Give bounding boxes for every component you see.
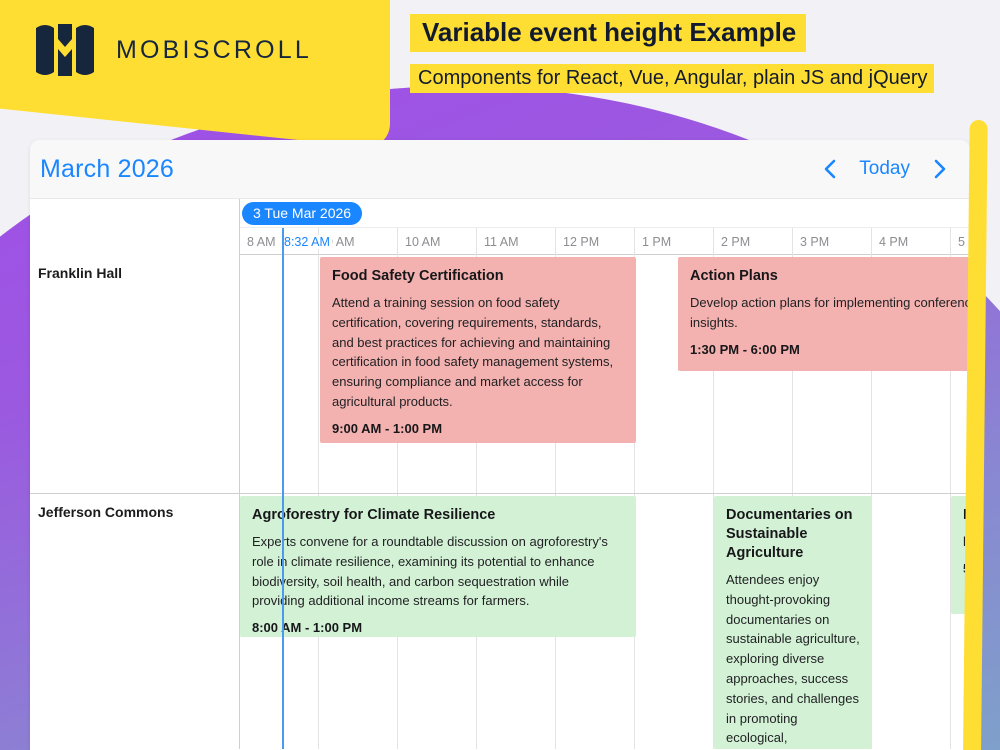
page-header: Variable event height Example Components… [410,12,990,95]
event-description: Attendees enjoy thought-provoking docume… [726,570,860,748]
current-time-line-header [282,228,284,255]
hour-label: 11 AM [484,235,519,249]
hour-label-cell: 3 PM [793,228,872,255]
event-food-safety-certification[interactable]: Food Safety Certification Attend a train… [320,257,636,443]
next-button[interactable] [922,152,956,186]
event-action-plans[interactable]: Action Plans Develop action plans for im… [678,257,970,371]
grid-row-jefferson-commons[interactable]: Agroforestry for Climate Resilience Expe… [240,494,970,749]
resource-labels: Franklin Hall Jefferson Commons [30,255,240,749]
hour-label: 8 AM [247,235,276,249]
calendar-navigation: Today [813,152,956,186]
current-time-label: 8:32 AM [282,235,332,249]
event-title: Agroforestry for Climate Resilience [252,506,624,525]
day-pill[interactable]: 3 Tue Mar 2026 [242,202,362,225]
page-subtitle-text: Components for React, Vue, Angular, plai… [410,64,934,93]
mobiscroll-m-logo-icon [34,22,96,78]
hour-label-cell: 2 PM [714,228,793,255]
hour-label-cell: 11 AM [477,228,556,255]
hour-label-cell: 8 AM8:32 AM [240,228,319,255]
resource-label: Franklin Hall [30,255,239,281]
hour-label-cell: 1 PM [635,228,714,255]
event-title: Food Safety Certification [332,267,624,286]
prev-button[interactable] [813,152,847,186]
resource-row-jefferson-commons[interactable]: Jefferson Commons [30,494,239,749]
calendar-toolbar: March 2026 Today [30,140,970,198]
grid-cell[interactable] [635,494,714,749]
hour-label-cell: 5 PM [951,228,970,255]
hour-label: 2 PM [721,235,750,249]
page-title: Variable event height Example [410,12,990,52]
event-time: 8:00 AM - 1:00 PM [252,620,624,635]
today-button[interactable]: Today [851,154,918,184]
hour-header-row: 8 AM8:32 AM9 AM10 AM11 AM12 PM1 PM2 PM3 … [240,228,970,255]
timeline-header-corner [30,199,240,255]
hour-label: 3 PM [800,235,829,249]
event-title: Documentaries on Sustainable Agriculture [726,506,860,563]
hour-label-cell: 12 PM [556,228,635,255]
event-agroforestry-for-climate-resilience[interactable]: Agroforestry for Climate Resilience Expe… [240,496,636,637]
hour-label: 1 PM [642,235,671,249]
hour-label-cell: 4 PM [872,228,951,255]
resource-label: Jefferson Commons [30,494,239,520]
event-time: 9:00 AM - 1:00 PM [332,421,624,436]
brand-name: MOBISCROLL [116,36,312,65]
event-time: 1:30 PM - 6:00 PM [690,342,970,357]
timeline: 3 Tue Mar 2026 8 AM8:32 AM9 AM10 AM11 AM… [30,198,970,749]
timeline-header: 3 Tue Mar 2026 8 AM8:32 AM9 AM10 AM11 AM… [30,198,970,255]
timeline-grid: Food Safety Certification Attend a train… [240,255,970,749]
resource-row-franklin-hall[interactable]: Franklin Hall [30,255,239,494]
event-documentaries-on-sustainable-agriculture[interactable]: Documentaries on Sustainable Agriculture… [714,496,872,749]
brand-logo: MOBISCROLL [34,22,312,78]
timeline-body: Franklin Hall Jefferson Commons Food Saf… [30,255,970,749]
day-header-row: 3 Tue Mar 2026 [240,199,970,228]
app-root: MOBISCROLL Variable event height Example… [0,0,1000,750]
calendar-month-title: March 2026 [40,155,174,184]
event-description: Develop action plans for implementing co… [690,293,970,333]
grid-cell[interactable] [872,494,951,749]
hour-label: 4 PM [879,235,908,249]
hour-label-cell: 10 AM [398,228,477,255]
timeline-header-columns: 3 Tue Mar 2026 8 AM8:32 AM9 AM10 AM11 AM… [240,199,970,255]
hour-label: 12 PM [563,235,599,249]
grid-cell[interactable] [240,255,319,493]
page-subtitle: Components for React, Vue, Angular, plai… [410,62,990,95]
chevron-right-icon [931,158,948,180]
event-description: Attend a training session on food safety… [332,293,624,412]
event-description: Experts convene for a roundtable discuss… [252,532,624,611]
page-title-text: Variable event height Example [410,14,806,52]
chevron-left-icon [822,158,839,180]
event-title: Action Plans [690,267,970,286]
grid-row-franklin-hall[interactable]: Food Safety Certification Attend a train… [240,255,970,494]
calendar-card: March 2026 Today [30,140,970,750]
hour-label: 10 AM [405,235,440,249]
